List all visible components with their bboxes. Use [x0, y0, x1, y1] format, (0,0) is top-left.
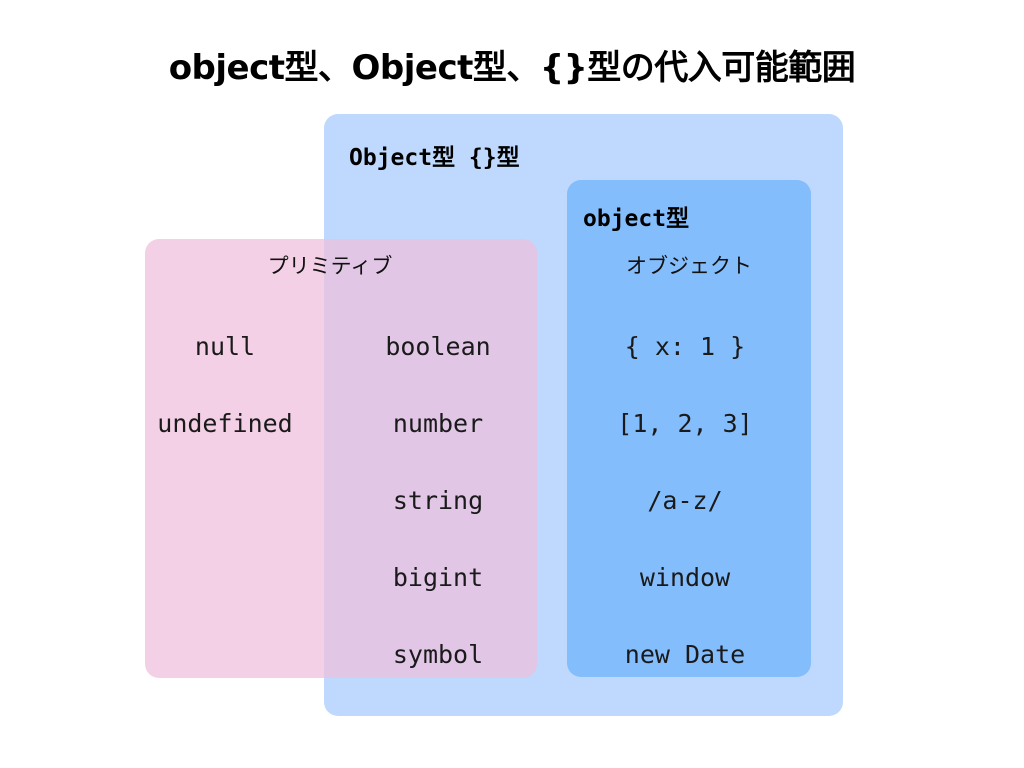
list-item: boolean	[358, 308, 518, 385]
label-object-type: object型	[583, 199, 689, 233]
caption-object-values: オブジェクト	[589, 250, 789, 280]
label-object-and-brace-type: Object型 {}型	[349, 138, 520, 172]
column-primitive-inside: boolean number string bigint symbol	[358, 308, 518, 693]
column-object-values: { x: 1 } [1, 2, 3] /a-z/ window new Date	[605, 308, 765, 693]
list-item: /a-z/	[605, 462, 765, 539]
list-item: number	[358, 385, 518, 462]
page-title: object型、Object型、{}型の代入可能範囲	[0, 40, 1024, 89]
type-assignability-diagram: object型、Object型、{}型の代入可能範囲 Object型 {}型 o…	[0, 0, 1024, 768]
list-item: new Date	[605, 616, 765, 693]
list-item: [1, 2, 3]	[605, 385, 765, 462]
list-item: string	[358, 462, 518, 539]
list-item: bigint	[358, 539, 518, 616]
list-item: window	[605, 539, 765, 616]
list-item: null	[145, 308, 305, 385]
caption-primitive: プリミティブ	[230, 250, 430, 280]
list-item: { x: 1 }	[605, 308, 765, 385]
list-item: symbol	[358, 616, 518, 693]
list-item: undefined	[145, 385, 305, 462]
column-primitive-outside: null undefined	[145, 308, 305, 462]
